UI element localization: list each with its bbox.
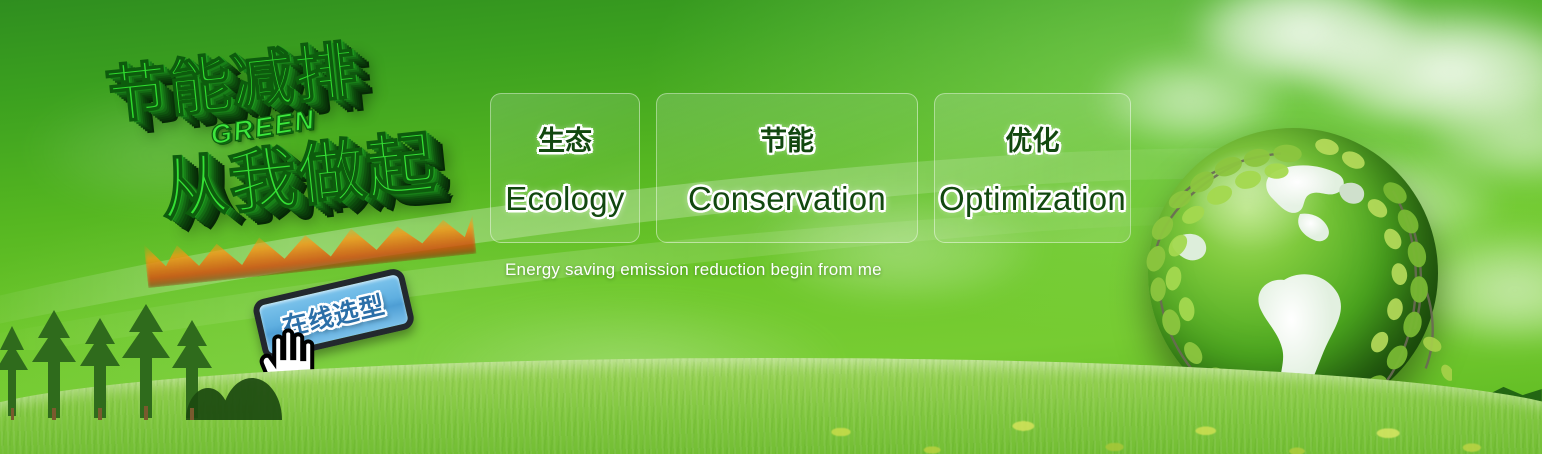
conifer-trees-left <box>0 304 350 420</box>
feature-card-en-label: Optimization <box>939 180 1126 218</box>
feature-card-group: 生态 Ecology 节能 Conservation 优化 Optimizati… <box>490 93 1131 243</box>
feature-card-en-label: Ecology <box>505 180 625 218</box>
feature-card-en-label: Conservation <box>688 180 886 218</box>
feature-card-optimization[interactable]: 优化 Optimization <box>934 93 1131 243</box>
cloud-shape <box>1300 6 1542 126</box>
banner-tagline: Energy saving emission reduction begin f… <box>505 260 882 280</box>
feature-card-conservation[interactable]: 节能 Conservation <box>656 93 918 243</box>
cloud-shape <box>1185 0 1425 82</box>
headline-line-bottom: 从我做起 <box>157 128 439 226</box>
headline-line-top: 节能减排 <box>103 39 360 129</box>
feature-card-cn-label: 优化 <box>1006 119 1060 158</box>
feature-card-cn-label: 生态 <box>538 119 592 158</box>
feature-card-cn-label: 节能 <box>760 119 814 158</box>
feature-card-ecology[interactable]: 生态 Ecology <box>490 93 640 243</box>
leaf-litter <box>765 408 1525 454</box>
headline-3d: 节能减排 GREEN 从我做起 <box>84 18 506 289</box>
eco-promo-banner: 节能减排 GREEN 从我做起 生态 Ecology 节能 Conservati… <box>0 0 1542 454</box>
